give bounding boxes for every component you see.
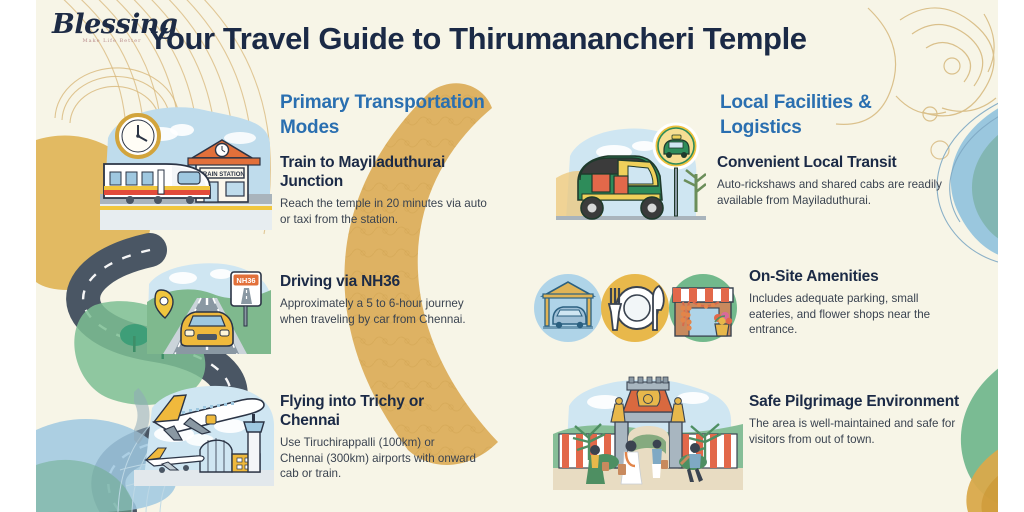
item-safety: Safe Pilgrimage Environment The area is … — [749, 392, 964, 447]
item-safety-title: Safe Pilgrimage Environment — [749, 392, 964, 411]
item-amenities: On-Site Amenities Includes adequate park… — [749, 267, 949, 338]
auto-rickshaw-illustration — [556, 116, 706, 236]
item-flying-body: Use Tiruchirappalli (100km) or Chennai (… — [280, 435, 480, 482]
item-amenities-title: On-Site Amenities — [749, 267, 949, 286]
car-highway-illustration: NH36 — [143, 258, 271, 358]
infographic-poster: Blessing Make Life Better Your Travel Gu… — [0, 0, 1024, 512]
item-driving-body: Approximately a 5 to 6-hour journey when… — [280, 296, 485, 327]
item-driving-title: Driving via NH36 — [280, 272, 485, 291]
airplane-airport-illustration — [134, 378, 274, 486]
item-flying: Flying into Trichy or Chennai Use Tiruch… — [280, 392, 480, 482]
svg-text:NH36: NH36 — [236, 276, 255, 285]
column-heading-transportation: Primary Transportation Modes — [280, 90, 520, 140]
page-title: Your Travel Guide to Thirumanancheri Tem… — [148, 20, 908, 58]
item-driving: Driving via NH36 Approximately a 5 to 6-… — [280, 272, 485, 327]
item-flying-title: Flying into Trichy or Chennai — [280, 392, 480, 430]
item-local-transit-body: Auto-rickshaws and shared cabs are readi… — [717, 177, 945, 208]
temple-entrance-pilgrims-illustration — [553, 372, 743, 490]
item-local-transit-title: Convenient Local Transit — [717, 153, 945, 172]
item-amenities-body: Includes adequate parking, small eaterie… — [749, 291, 949, 338]
column-heading-facilities: Local Facilities & Logistics — [720, 90, 950, 140]
amenities-icons-illustration — [533, 258, 738, 358]
train-station-clock-illustration: TRAIN STATION — [100, 98, 272, 230]
item-safety-body: The area is well-maintained and safe for… — [749, 416, 964, 447]
item-train-body: Reach the temple in 20 minutes via auto … — [280, 196, 495, 227]
item-train-title: Train to Mayiladuthurai Junction — [280, 153, 495, 191]
item-local-transit: Convenient Local Transit Auto-rickshaws … — [717, 153, 945, 208]
item-train: Train to Mayiladuthurai Junction Reach t… — [280, 153, 495, 227]
